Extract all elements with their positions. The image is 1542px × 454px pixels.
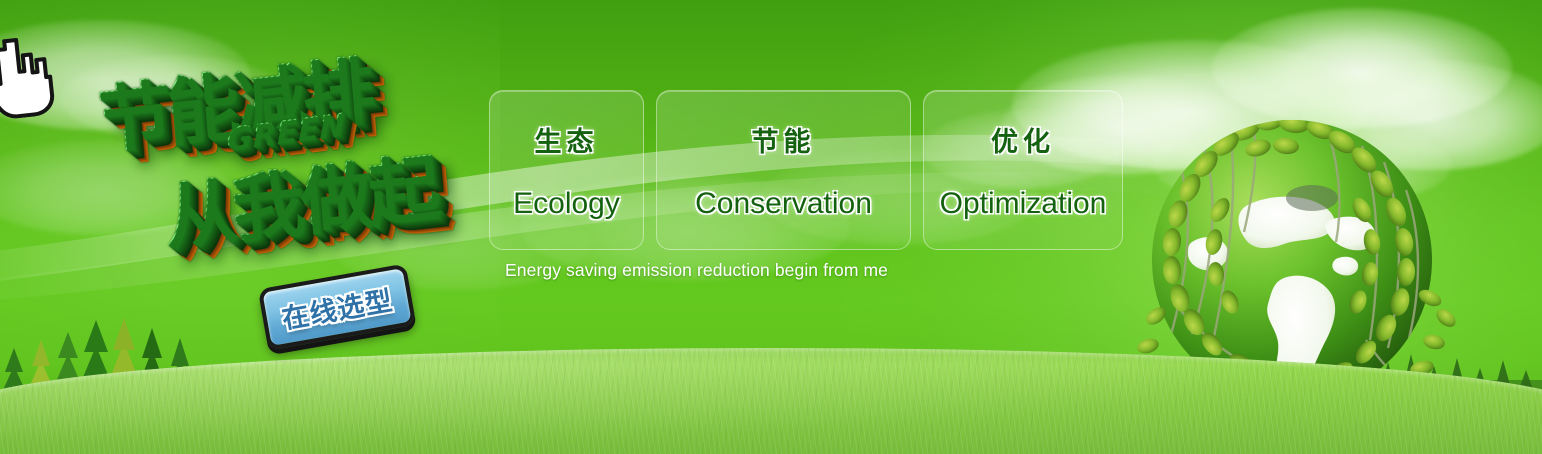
eco-promo-banner: 节能减排 GREEN 从我做起 在线选型 生态 Ecology 节能 Conse…	[0, 0, 1542, 454]
cloud-icon	[1152, 120, 1452, 210]
feature-card-cn-label: 节能	[752, 120, 816, 159]
banner-tagline: Energy saving emission reduction begin f…	[505, 260, 888, 281]
cloud-icon	[1302, 60, 1542, 170]
hero-title: 节能减排 GREEN 从我做起	[88, 27, 504, 283]
feature-card-list: 生态 Ecology 节能 Conservation 优化 Optimizati…	[489, 90, 1123, 250]
feature-card-cn-label: 优化	[991, 120, 1055, 159]
cta-button-label: 在线选型	[258, 263, 416, 350]
feature-card-optimization[interactable]: 优化 Optimization	[923, 90, 1123, 250]
grass-texture	[0, 348, 1542, 454]
pointing-hand-cursor-icon	[0, 32, 58, 121]
feature-card-en-label: Conservation	[695, 187, 872, 221]
grass-field	[0, 348, 1542, 454]
cloud-icon	[1212, 8, 1512, 128]
online-selection-button[interactable]: 在线选型	[258, 263, 416, 350]
feature-card-en-label: Optimization	[940, 187, 1107, 221]
feature-card-cn-label: 生态	[535, 120, 599, 159]
feature-card-conservation[interactable]: 节能 Conservation	[656, 90, 911, 250]
feature-card-en-label: Ecology	[513, 187, 620, 221]
feature-card-ecology[interactable]: 生态 Ecology	[489, 90, 644, 250]
